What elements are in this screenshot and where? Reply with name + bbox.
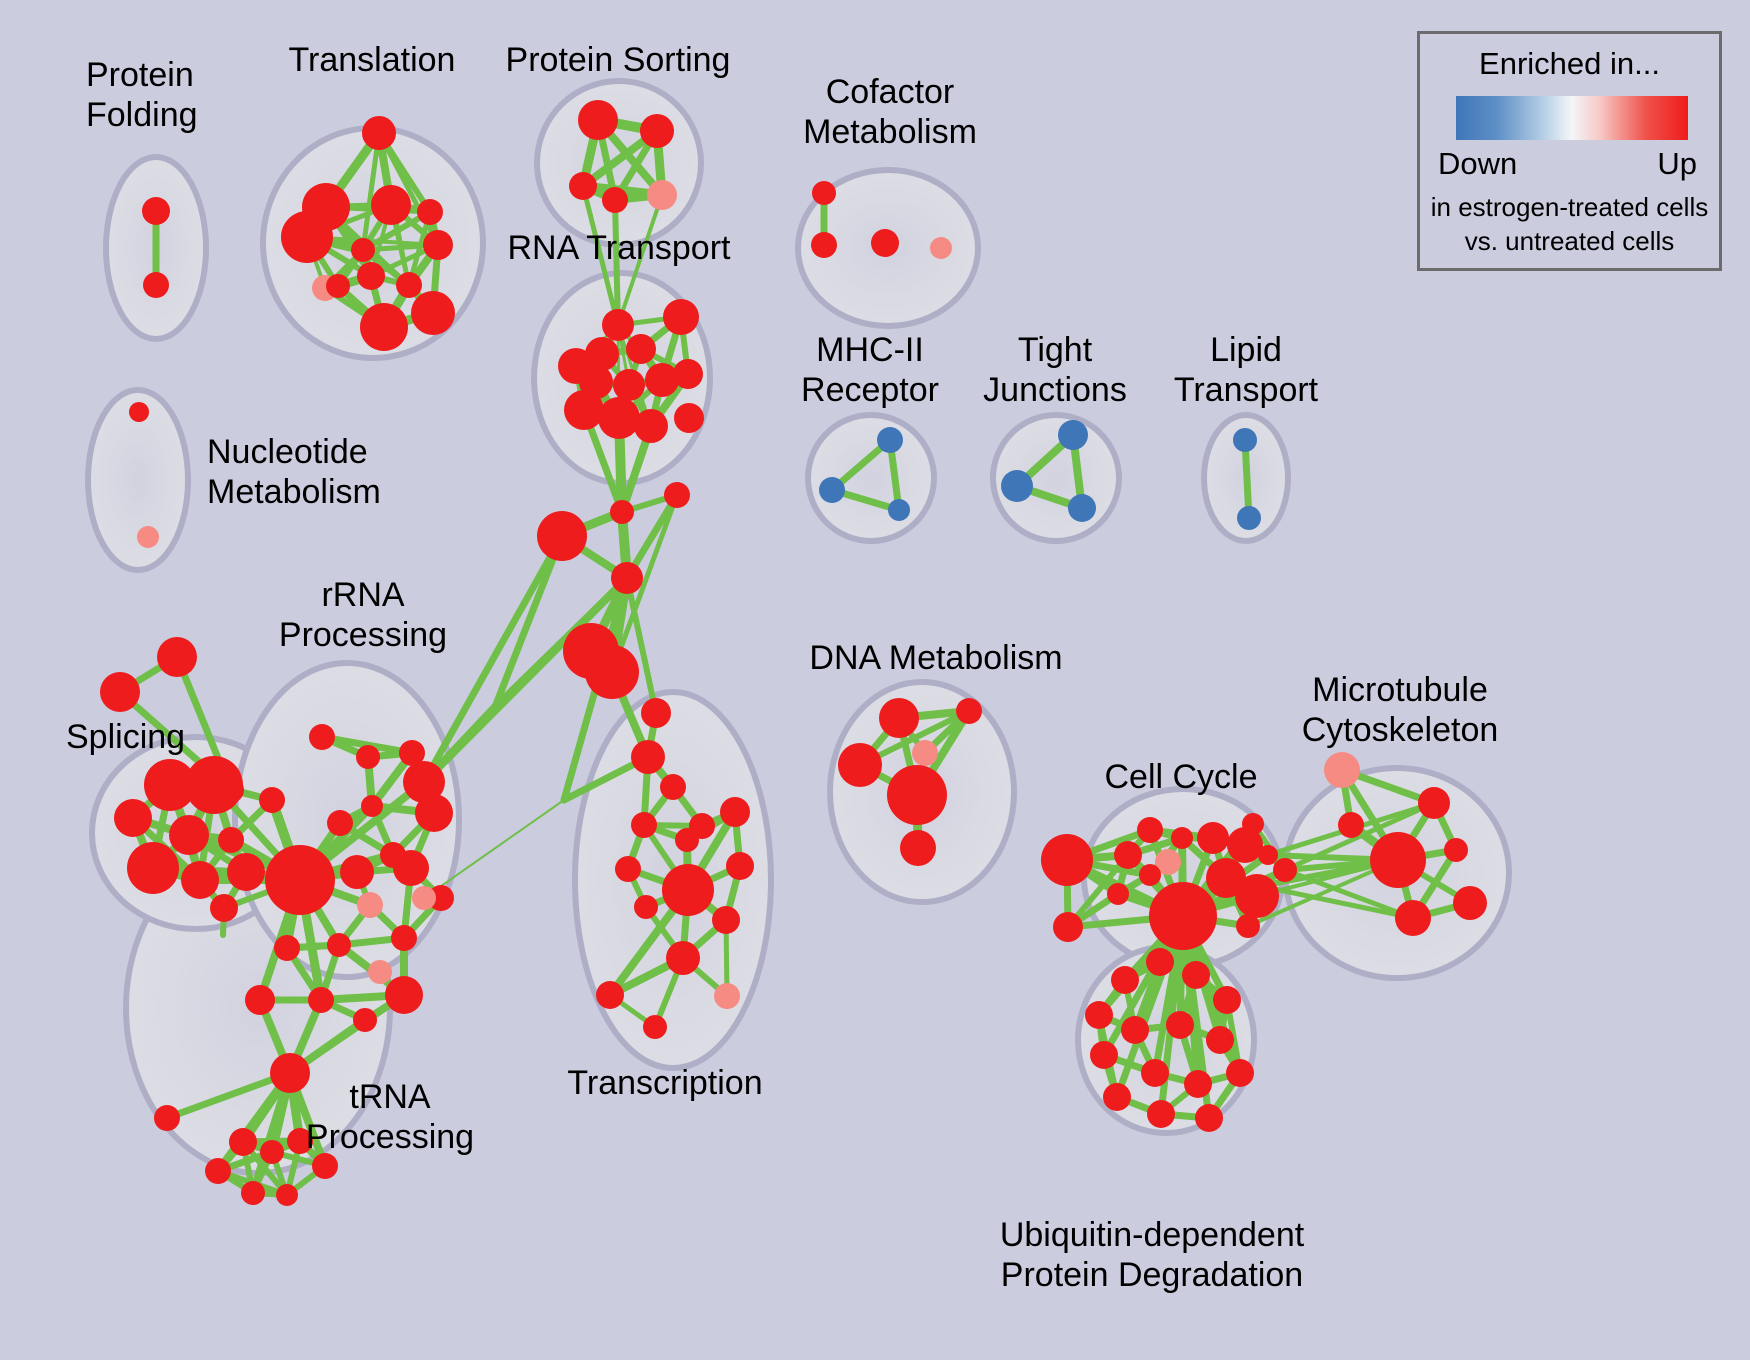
node bbox=[726, 852, 754, 880]
node bbox=[537, 511, 587, 561]
legend-subtitle-line2: vs. untreated cells bbox=[1420, 226, 1719, 257]
node bbox=[1139, 864, 1161, 886]
node bbox=[663, 299, 699, 335]
node bbox=[564, 390, 604, 430]
node bbox=[142, 197, 170, 225]
node bbox=[1236, 914, 1260, 938]
node bbox=[812, 181, 836, 205]
cluster-label-splicing: Splicing bbox=[66, 717, 185, 757]
node bbox=[1395, 900, 1431, 936]
node bbox=[351, 238, 375, 262]
cluster-label-rrna-processing: rRNA Processing bbox=[279, 575, 447, 655]
node bbox=[912, 740, 938, 766]
node bbox=[1058, 420, 1088, 450]
node bbox=[205, 1158, 231, 1184]
node bbox=[1197, 822, 1229, 854]
cluster-label-mhc-ii-receptor: MHC-II Receptor bbox=[801, 330, 939, 410]
node bbox=[1233, 428, 1257, 452]
node bbox=[1195, 1104, 1223, 1132]
legend-title: Enriched in... bbox=[1420, 46, 1719, 82]
node bbox=[100, 672, 140, 712]
node bbox=[887, 765, 947, 825]
node bbox=[396, 272, 422, 298]
node bbox=[327, 810, 353, 836]
node bbox=[1242, 813, 1264, 835]
node bbox=[631, 740, 665, 774]
node bbox=[1444, 838, 1468, 862]
node bbox=[712, 906, 740, 934]
cluster-label-dna-metabolism: DNA Metabolism bbox=[809, 638, 1062, 678]
node bbox=[647, 180, 677, 210]
node bbox=[675, 828, 699, 852]
node bbox=[664, 482, 690, 508]
node bbox=[281, 211, 333, 263]
node bbox=[662, 864, 714, 916]
node bbox=[660, 774, 686, 800]
node bbox=[1103, 1083, 1131, 1111]
node bbox=[602, 187, 628, 213]
node bbox=[114, 799, 152, 837]
node bbox=[229, 1128, 257, 1156]
node bbox=[309, 724, 335, 750]
cluster-label-rna-transport: RNA Transport bbox=[508, 228, 731, 268]
node bbox=[714, 983, 740, 1009]
cluster-label-nucleotide-metabolism: Nucleotide Metabolism bbox=[207, 432, 381, 512]
cluster-label-tight-junctions: Tight Junctions bbox=[983, 330, 1127, 410]
node bbox=[930, 237, 952, 259]
node bbox=[1453, 886, 1487, 920]
node bbox=[360, 303, 408, 351]
node bbox=[260, 1140, 284, 1164]
node bbox=[666, 941, 700, 975]
node bbox=[645, 363, 679, 397]
node bbox=[245, 985, 275, 1015]
cluster-label-trna-processing: tRNA Processing bbox=[306, 1077, 474, 1157]
node bbox=[1001, 470, 1033, 502]
node bbox=[819, 477, 845, 503]
node bbox=[1114, 841, 1142, 869]
node bbox=[602, 309, 634, 341]
node bbox=[391, 925, 417, 951]
node bbox=[1137, 817, 1163, 843]
node bbox=[326, 274, 350, 298]
legend-high-label: Up bbox=[1657, 146, 1697, 182]
node bbox=[1107, 883, 1129, 905]
node bbox=[356, 745, 380, 769]
node bbox=[1184, 1070, 1212, 1098]
node bbox=[411, 291, 455, 335]
node bbox=[1226, 1059, 1254, 1087]
node bbox=[362, 116, 396, 150]
node bbox=[259, 787, 285, 813]
cluster-label-microtubule: Microtubule Cytoskeleton bbox=[1302, 670, 1499, 750]
node bbox=[227, 853, 265, 891]
node bbox=[1068, 494, 1096, 522]
node bbox=[361, 795, 383, 817]
node bbox=[417, 199, 443, 225]
cluster-label-transcription: Transcription bbox=[567, 1063, 762, 1103]
node bbox=[1418, 787, 1450, 819]
node bbox=[643, 1015, 667, 1039]
cluster-label-cofactor-metabolism: Cofactor Metabolism bbox=[803, 72, 977, 152]
node bbox=[274, 935, 300, 961]
legend-box: Enriched in... Down Up in estrogen-treat… bbox=[1417, 31, 1722, 271]
node bbox=[631, 812, 657, 838]
node bbox=[838, 743, 882, 787]
node bbox=[241, 1181, 265, 1205]
node bbox=[1090, 1041, 1118, 1069]
node bbox=[1324, 752, 1360, 788]
node bbox=[1338, 812, 1364, 838]
node bbox=[720, 797, 750, 827]
node bbox=[871, 229, 899, 257]
node bbox=[1171, 827, 1193, 849]
node bbox=[1149, 882, 1217, 950]
node bbox=[357, 262, 385, 290]
node bbox=[811, 232, 837, 258]
node bbox=[412, 886, 436, 910]
node bbox=[265, 845, 335, 915]
legend-low-label: Down bbox=[1438, 146, 1517, 182]
node bbox=[1141, 1059, 1169, 1087]
cluster-label-protein-folding: Protein Folding bbox=[86, 55, 198, 135]
node bbox=[634, 409, 668, 443]
node bbox=[218, 777, 244, 803]
cluster-label-lipid-transport: Lipid Transport bbox=[1174, 330, 1318, 410]
node bbox=[641, 698, 671, 728]
node bbox=[956, 698, 982, 724]
node bbox=[1147, 1100, 1175, 1128]
hull-mhc-ii-receptor bbox=[808, 415, 934, 541]
node bbox=[585, 645, 639, 699]
node bbox=[634, 895, 658, 919]
node bbox=[900, 830, 936, 866]
node bbox=[340, 855, 374, 889]
node bbox=[1166, 1011, 1194, 1039]
node bbox=[137, 526, 159, 548]
node bbox=[423, 230, 453, 260]
node bbox=[129, 402, 149, 422]
node bbox=[674, 403, 704, 433]
node bbox=[154, 1105, 180, 1131]
node bbox=[308, 987, 334, 1013]
node bbox=[357, 892, 383, 918]
node bbox=[1250, 876, 1270, 896]
node bbox=[181, 861, 219, 899]
node bbox=[1182, 961, 1210, 989]
node bbox=[610, 500, 634, 524]
node bbox=[673, 359, 703, 389]
legend-color-bar bbox=[1456, 96, 1688, 140]
node bbox=[157, 637, 197, 677]
figure-canvas: .hull{fill:url(#clusterGrad);stroke:#aea… bbox=[0, 0, 1750, 1360]
node bbox=[371, 185, 411, 225]
node bbox=[877, 427, 903, 453]
node bbox=[1237, 506, 1261, 530]
node bbox=[1121, 1016, 1149, 1044]
node bbox=[1258, 845, 1278, 865]
node bbox=[210, 894, 238, 922]
node bbox=[1213, 986, 1241, 1014]
node bbox=[1041, 834, 1093, 886]
node bbox=[385, 976, 423, 1014]
node bbox=[613, 369, 645, 401]
node bbox=[1085, 1001, 1113, 1029]
cluster-label-translation: Translation bbox=[289, 40, 456, 80]
node bbox=[1111, 966, 1139, 994]
node bbox=[218, 827, 244, 853]
node bbox=[569, 172, 597, 200]
node bbox=[127, 842, 179, 894]
node bbox=[598, 397, 640, 439]
node bbox=[615, 856, 641, 882]
legend-subtitle-line1: in estrogen-treated cells bbox=[1420, 192, 1719, 223]
node bbox=[626, 334, 656, 364]
node bbox=[143, 272, 169, 298]
node bbox=[611, 562, 643, 594]
node bbox=[353, 1008, 377, 1032]
node bbox=[270, 1053, 310, 1093]
node bbox=[1053, 912, 1083, 942]
node bbox=[169, 815, 209, 855]
node bbox=[393, 850, 429, 886]
node bbox=[1146, 948, 1174, 976]
node bbox=[1206, 1026, 1234, 1054]
cluster-label-cell-cycle: Cell Cycle bbox=[1104, 757, 1257, 797]
node bbox=[1273, 858, 1297, 882]
node bbox=[879, 698, 919, 738]
node bbox=[640, 114, 674, 148]
cluster-label-protein-sorting: Protein Sorting bbox=[506, 40, 731, 80]
node bbox=[276, 1184, 298, 1206]
node bbox=[888, 499, 910, 521]
node bbox=[327, 933, 351, 957]
node bbox=[368, 960, 392, 984]
node bbox=[578, 100, 618, 140]
node bbox=[1370, 832, 1426, 888]
cluster-label-ubiquitin: Ubiquitin-dependent Protein Degradation bbox=[1000, 1215, 1304, 1295]
node bbox=[596, 981, 624, 1009]
node bbox=[415, 794, 453, 832]
